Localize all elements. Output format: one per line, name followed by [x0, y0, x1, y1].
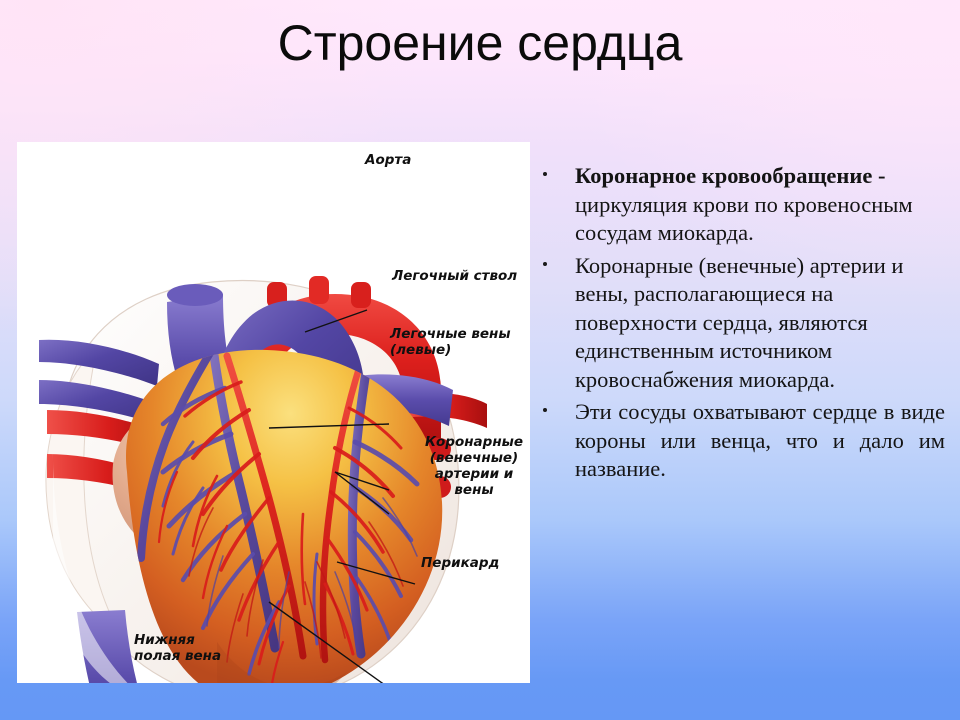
- label-pulmonary-veins: Легочные вены (левые): [390, 326, 511, 358]
- label-aorta: Аорта: [365, 152, 411, 168]
- list-item-rest: циркуляция крови по кровеносным сосудам …: [575, 192, 913, 246]
- label-pulmonary-trunk: Легочный ствол: [392, 268, 517, 284]
- list-item: Коронарные (венечные) артерии и вены, ра…: [537, 252, 945, 395]
- list-item-text: Коронарные (венечные) артерии и вены, ра…: [575, 252, 945, 395]
- list-item-text: Эти сосуды охватывают сердце в виде коро…: [575, 398, 945, 484]
- heart-anatomy-illustration: [17, 142, 530, 683]
- bullet-dot-icon: [543, 262, 547, 266]
- list-item: Коронарное кровообращение - циркуляция к…: [537, 162, 945, 248]
- list-item: Эти сосуды охватывают сердце в виде коро…: [537, 398, 945, 484]
- slide-canvas: Строение сердца: [0, 0, 960, 720]
- list-item-text: Коронарное кровообращение - циркуляция к…: [575, 162, 945, 248]
- page-title: Строение сердца: [0, 14, 960, 72]
- label-coronary-vessels: Коронарные (венечные) артерии и вены: [415, 434, 533, 498]
- content-bullet-list: Коронарное кровообращение - циркуляция к…: [537, 162, 945, 488]
- bullet-dot-icon: [543, 172, 547, 176]
- label-inferior-vena-cava: Нижняя полая вена: [134, 632, 221, 664]
- heart-figure-panel: [17, 142, 530, 683]
- bullet-dot-icon: [543, 408, 547, 412]
- label-pericardium: Перикард: [421, 555, 499, 571]
- list-item-lead: Коронарное кровообращение -: [575, 163, 885, 188]
